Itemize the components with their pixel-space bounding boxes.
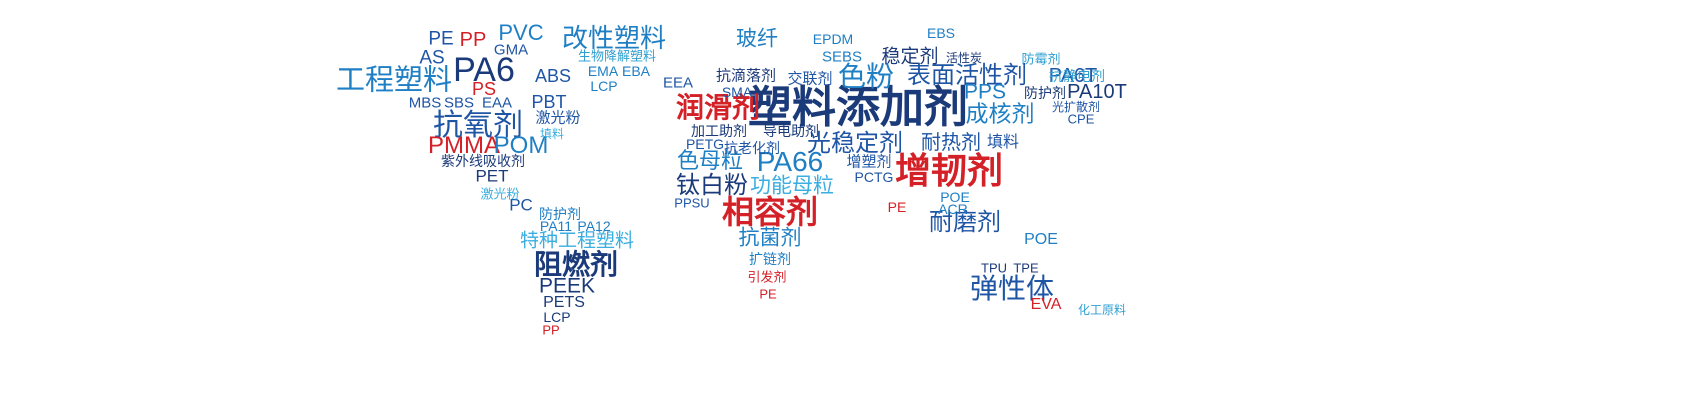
word-cloud-term[interactable]: 抗滴落剂 bbox=[716, 69, 776, 84]
word-cloud-term[interactable]: 玻纤 bbox=[736, 29, 778, 50]
word-cloud-term[interactable]: EEA bbox=[663, 76, 693, 91]
word-cloud-term[interactable]: 稳定剂 bbox=[881, 48, 938, 67]
word-cloud-term[interactable]: 增韧剂 bbox=[895, 153, 1003, 189]
word-cloud-term[interactable]: PP bbox=[542, 324, 559, 337]
word-cloud-term[interactable]: TPU bbox=[981, 262, 1007, 275]
word-cloud-term[interactable]: PE bbox=[428, 30, 453, 49]
word-cloud-term[interactable]: MBS bbox=[409, 96, 442, 111]
word-cloud-term[interactable]: 生物降解塑料 bbox=[578, 50, 656, 63]
word-cloud-term[interactable]: 改性塑料 bbox=[562, 25, 666, 51]
word-cloud-term[interactable]: POE bbox=[1024, 232, 1058, 248]
word-cloud-term[interactable]: PA12 bbox=[577, 219, 610, 233]
word-cloud-term[interactable]: 填料 bbox=[540, 128, 564, 140]
word-cloud-term[interactable]: PET bbox=[475, 168, 508, 185]
word-cloud-term[interactable]: 钛白粉 bbox=[676, 174, 748, 198]
word-cloud-term[interactable]: EPDM bbox=[813, 32, 853, 46]
word-cloud-term[interactable]: TPE bbox=[1013, 262, 1038, 275]
word-cloud-term[interactable]: 抗老化剂 bbox=[724, 141, 780, 155]
word-cloud-term[interactable]: 化工原料 bbox=[1078, 304, 1126, 316]
word-cloud-canvas: 塑料添加剂增韧剂相容剂阻燃剂润滑剂工程塑料PA6抗氧剂表面活性剂弹性体色粉改性塑… bbox=[0, 0, 1707, 400]
word-cloud-term[interactable]: PE bbox=[759, 288, 776, 301]
word-cloud-term[interactable]: EBA bbox=[622, 64, 650, 78]
word-cloud-term[interactable]: SBS bbox=[444, 96, 474, 111]
word-cloud-term[interactable]: 功能母粒 bbox=[750, 176, 834, 197]
word-cloud-term[interactable]: PPSU bbox=[674, 197, 709, 210]
word-cloud-term[interactable]: SEBS bbox=[822, 50, 862, 65]
word-cloud-term[interactable]: 激光粉 bbox=[480, 188, 519, 201]
word-cloud-term[interactable]: PCTG bbox=[855, 170, 894, 184]
word-cloud-term[interactable]: 导电助剂 bbox=[763, 124, 819, 138]
word-cloud-term[interactable]: CPE bbox=[1068, 113, 1095, 126]
word-cloud-term[interactable]: ACR bbox=[938, 202, 968, 216]
word-cloud-term[interactable]: 抗菌剂 bbox=[739, 228, 802, 249]
word-cloud-term[interactable]: PPS bbox=[964, 82, 1006, 103]
word-cloud-term[interactable]: SMA bbox=[722, 85, 752, 99]
word-cloud-term[interactable]: 工程塑料 bbox=[336, 67, 452, 96]
word-cloud-term[interactable]: EBS bbox=[927, 26, 955, 40]
word-cloud-term[interactable]: 交联剂 bbox=[787, 72, 832, 87]
word-cloud-term[interactable]: 防护剂 bbox=[539, 207, 581, 221]
word-cloud-term[interactable]: 防护剂 bbox=[1024, 86, 1066, 100]
word-cloud-term[interactable]: LCP bbox=[590, 79, 617, 93]
word-cloud-term[interactable]: AS bbox=[419, 49, 444, 68]
word-cloud-term[interactable]: 紫外线吸收剂 bbox=[441, 154, 525, 168]
word-cloud-term[interactable]: 防霉剂 bbox=[1021, 53, 1060, 66]
word-cloud-term[interactable]: 光稳定剂 bbox=[807, 132, 903, 156]
word-cloud-term[interactable]: 引发剂 bbox=[747, 271, 786, 284]
word-cloud-term[interactable]: 成核剂 bbox=[966, 103, 1035, 126]
word-cloud-term[interactable]: 光扩散剂 bbox=[1052, 101, 1100, 113]
word-cloud-term[interactable]: 抗静电剂 bbox=[1049, 69, 1105, 83]
word-cloud-term[interactable]: PBT bbox=[531, 93, 566, 111]
word-cloud-term[interactable]: 相容剂 bbox=[722, 196, 818, 228]
word-cloud-term[interactable]: 耐热剂 bbox=[921, 133, 981, 153]
word-cloud-term[interactable]: GMA bbox=[494, 43, 528, 58]
word-cloud-term[interactable]: 激光粉 bbox=[535, 111, 580, 126]
word-cloud-term[interactable]: 加工助剂 bbox=[691, 124, 747, 138]
word-cloud-term[interactable]: PP bbox=[460, 30, 487, 50]
word-cloud-term[interactable]: EAA bbox=[482, 96, 512, 111]
word-cloud-term[interactable]: PE bbox=[888, 200, 907, 214]
word-cloud-term[interactable]: 增塑剂 bbox=[846, 155, 891, 170]
word-cloud-term[interactable]: EMA bbox=[588, 64, 618, 78]
word-cloud-term[interactable]: 扩链剂 bbox=[749, 252, 791, 266]
word-cloud-term[interactable]: EVA bbox=[1031, 297, 1062, 313]
word-cloud-term[interactable]: 特种工程塑料 bbox=[520, 232, 634, 251]
word-cloud-term[interactable]: 填料 bbox=[987, 135, 1019, 151]
word-cloud-term[interactable]: ABS bbox=[535, 67, 571, 85]
word-cloud-term[interactable]: 活性炭 bbox=[946, 52, 982, 64]
word-cloud-term[interactable]: PETG bbox=[686, 137, 724, 151]
